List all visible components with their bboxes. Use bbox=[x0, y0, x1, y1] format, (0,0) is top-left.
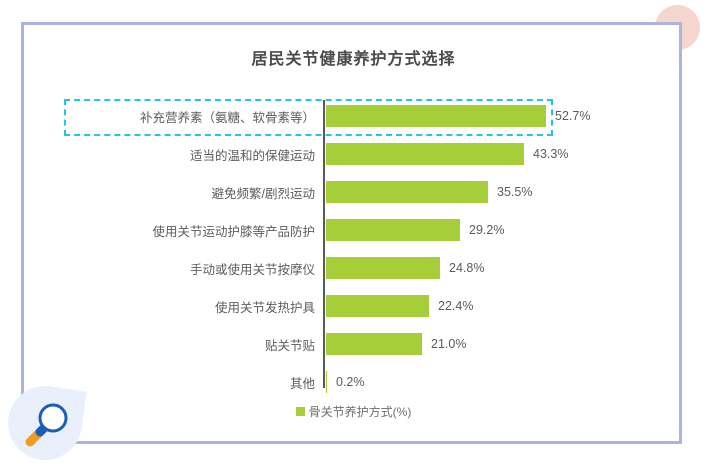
magnifier-icon bbox=[10, 390, 80, 460]
chart-row: 使用关节运动护膝等产品防护 29.2% bbox=[60, 212, 640, 248]
bar bbox=[326, 105, 546, 127]
chart-row: 补充营养素（氨糖、软骨素等） 52.7% bbox=[60, 98, 640, 134]
bar bbox=[326, 181, 488, 203]
chart-row: 适当的温和的保健运动 43.3% bbox=[60, 136, 640, 172]
bar-container: 24.8% bbox=[326, 257, 640, 279]
bar-container: 22.4% bbox=[326, 295, 640, 317]
bar-value-label: 43.3% bbox=[533, 147, 568, 161]
bar bbox=[326, 371, 327, 393]
bar bbox=[326, 143, 524, 165]
category-label: 补充营养素（氨糖、软骨素等） bbox=[60, 107, 323, 126]
chart-row: 其他 0.2% bbox=[60, 364, 640, 400]
bar-value-label: 21.0% bbox=[431, 337, 466, 351]
chart-row: 避免频繁/剧烈运动 35.5% bbox=[60, 174, 640, 210]
chart-title: 居民关节健康养护方式选择 bbox=[0, 45, 707, 69]
category-label: 使用关节运动护膝等产品防护 bbox=[60, 221, 323, 240]
chart-row: 手动或使用关节按摩仪 24.8% bbox=[60, 250, 640, 286]
category-label: 贴关节贴 bbox=[60, 335, 323, 354]
category-label: 适当的温和的保健运动 bbox=[60, 145, 323, 164]
bar-container: 21.0% bbox=[326, 333, 640, 355]
bar-value-label: 52.7% bbox=[555, 109, 590, 123]
bar bbox=[326, 219, 460, 241]
bar bbox=[326, 295, 429, 317]
category-label: 使用关节发热护具 bbox=[60, 297, 323, 316]
bar-value-label: 22.4% bbox=[438, 299, 473, 313]
bar-container: 52.7% bbox=[326, 105, 640, 127]
bar-value-label: 35.5% bbox=[497, 185, 532, 199]
legend-swatch-icon bbox=[296, 407, 305, 416]
bar-container: 0.2% bbox=[326, 371, 640, 393]
bar bbox=[326, 257, 440, 279]
legend-label: 骨关节养护方式(%) bbox=[309, 403, 412, 420]
chart-row: 贴关节贴 21.0% bbox=[60, 326, 640, 362]
bar-container: 43.3% bbox=[326, 143, 640, 165]
category-label: 手动或使用关节按摩仪 bbox=[60, 259, 323, 278]
chart-row: 使用关节发热护具 22.4% bbox=[60, 288, 640, 324]
bar bbox=[326, 333, 422, 355]
chart-screenshot: 居民关节健康养护方式选择 补充营养素（氨糖、软骨素等） 52.7% 适当的温和的… bbox=[0, 0, 707, 466]
chart-legend: 骨关节养护方式(%) bbox=[0, 403, 707, 420]
bar-value-label: 24.8% bbox=[449, 261, 484, 275]
bar-container: 29.2% bbox=[326, 219, 640, 241]
category-label: 其他 bbox=[60, 373, 323, 392]
bar-container: 35.5% bbox=[326, 181, 640, 203]
category-label: 避免频繁/剧烈运动 bbox=[60, 183, 323, 202]
bar-value-label: 0.2% bbox=[336, 375, 365, 389]
chart-plot-area: 补充营养素（氨糖、软骨素等） 52.7% 适当的温和的保健运动 43.3% 避免… bbox=[60, 98, 640, 388]
bar-value-label: 29.2% bbox=[469, 223, 504, 237]
